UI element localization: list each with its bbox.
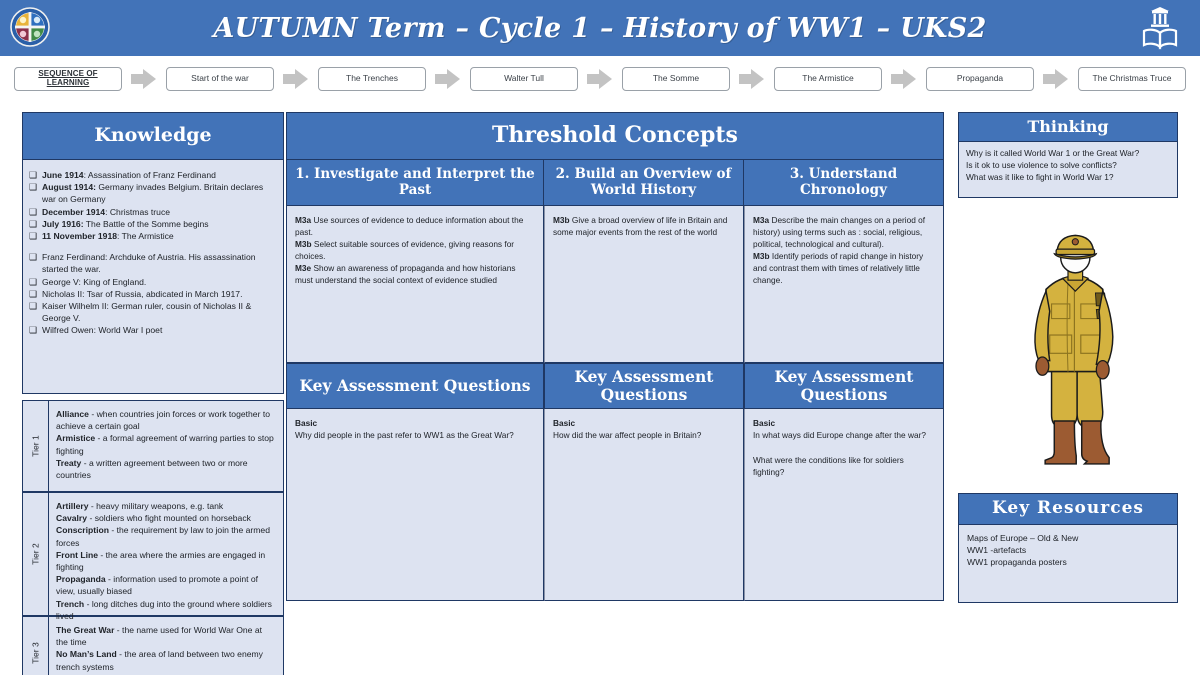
threshold-concepts-heading: Threshold Concepts — [286, 112, 944, 160]
knowledge-list-item: ❑December 1914: Christmas truce — [29, 206, 275, 218]
right-arrow-icon — [891, 68, 917, 90]
vocabulary-term: No Man’s Land - the area of land between… — [56, 648, 275, 672]
knowledge-item-text: 11 November 1918: The Armistice — [42, 230, 275, 242]
threshold-column-2: 2. Build an Overview of World History M3… — [544, 160, 744, 601]
tier-vocabulary-table: Tier 1Alliance - when countries join for… — [22, 400, 284, 675]
key-assessment-questions-content: BasicHow did the war affect people in Br… — [544, 409, 744, 601]
checkbox-bullet-icon: ❑ — [29, 230, 42, 242]
page-header: AUTUMN Term – Cycle 1 – History of WW1 –… — [0, 0, 1200, 56]
threshold-objective: M3b Identify periods of rapid change in … — [753, 250, 935, 286]
right-arrow-icon — [283, 68, 309, 90]
page-title: AUTUMN Term – Cycle 1 – History of WW1 –… — [213, 13, 986, 44]
knowledge-dates-list: ❑June 1914: Assassination of Franz Ferdi… — [29, 169, 275, 242]
threshold-column-objectives: M3b Give a broad overview of life in Bri… — [544, 206, 744, 363]
sequence-step-4[interactable]: The Somme — [622, 67, 730, 91]
threshold-column-3: 3. Understand Chronology M3a Describe th… — [744, 160, 944, 601]
vocabulary-term: Conscription - the requirement by law to… — [56, 524, 275, 548]
sequence-step-label: The Trenches — [346, 74, 398, 83]
knowledge-list-item: ❑Nicholas II: Tsar of Russia, abdicated … — [29, 288, 275, 300]
vocabulary-term: Alliance - when countries join forces or… — [56, 408, 275, 432]
thinking-question: Why is it called World War 1 or the Grea… — [966, 148, 1170, 160]
key-assessment-questions-content: BasicWhy did people in the past refer to… — [286, 409, 544, 601]
tier-label: Tier 3 — [23, 617, 49, 675]
sequence-step-1[interactable]: Start of the war — [166, 67, 274, 91]
knowledge-list-item: ❑George V: King of England. — [29, 276, 275, 288]
tier-label: Tier 2 — [23, 493, 49, 615]
threshold-objective: M3a Use sources of evidence to deduce in… — [295, 214, 535, 238]
checkbox-bullet-icon: ❑ — [29, 276, 42, 288]
checkbox-bullet-icon: ❑ — [29, 288, 42, 300]
thinking-questions: Why is it called World War 1 or the Grea… — [958, 142, 1178, 198]
museum-book-icon — [1138, 5, 1182, 51]
right-arrow-icon — [1043, 68, 1069, 90]
vocabulary-term: Artillery - heavy military weapons, e.g.… — [56, 500, 275, 512]
key-resource-item: WW1 propaganda posters — [967, 556, 1169, 568]
thinking-question: What was it like to fight in World War 1… — [966, 172, 1170, 184]
knowledge-panel: Knowledge ❑June 1914: Assassination of F… — [22, 112, 284, 645]
sequence-step-label: Propaganda — [957, 74, 1003, 83]
knowledge-list-item: ❑Franz Ferdinand: Archduke of Austria. H… — [29, 251, 275, 275]
sequence-step-label: Start of the war — [191, 74, 249, 83]
knowledge-list-item: ❑August 1914: Germany invades Belgium. B… — [29, 181, 275, 205]
tier-row: Tier 1Alliance - when countries join for… — [23, 401, 283, 493]
vocabulary-term: Treaty - a written agreement between two… — [56, 457, 275, 481]
tier-label: Tier 1 — [23, 401, 49, 491]
knowledge-heading: Knowledge — [22, 112, 284, 160]
knowledge-list-item: ❑Wilfred Owen: World War I poet — [29, 324, 275, 336]
checkbox-bullet-icon: ❑ — [29, 324, 42, 336]
thinking-heading: Thinking — [958, 112, 1178, 142]
knowledge-list-item: ❑June 1914: Assassination of Franz Ferdi… — [29, 169, 275, 181]
vocabulary-term: Front Line - the area where the armies a… — [56, 549, 275, 573]
knowledge-list-item: ❑11 November 1918: The Armistice — [29, 230, 275, 242]
checkbox-bullet-icon: ❑ — [29, 251, 42, 263]
knowledge-list-item: ❑July 1916: The Battle of the Somme begi… — [29, 218, 275, 230]
threshold-column-objectives: M3a Use sources of evidence to deduce in… — [286, 206, 544, 363]
thinking-panel: Thinking Why is it called World War 1 or… — [958, 112, 1178, 198]
vocabulary-term: Cavalry - soldiers who fight mounted on … — [56, 512, 275, 524]
tier-row: Tier 2Artillery - heavy military weapons… — [23, 493, 283, 617]
sequence-step-label: The Christmas Truce — [1093, 74, 1172, 83]
tier-definitions: Alliance - when countries join forces or… — [49, 401, 283, 491]
threshold-concepts-columns: 1. Investigate and Interpret the Past M3… — [286, 160, 944, 601]
key-assessment-questions-heading: Key Assessment Questions — [544, 363, 744, 409]
key-resources-panel: Key Resources Maps of Europe – Old & New… — [958, 493, 1178, 603]
right-sidebar: Thinking Why is it called World War 1 or… — [958, 112, 1178, 645]
sequence-title-label: SEQUENCE OF LEARNING — [18, 70, 118, 88]
assessment-level-label: Basic — [553, 417, 735, 429]
tier-definitions: The Great War - the name used for World … — [49, 617, 283, 675]
key-resource-item: Maps of Europe – Old & New — [967, 532, 1169, 544]
assessment-question: In what ways did Europe change after the… — [753, 429, 935, 441]
knowledge-item-text: Franz Ferdinand: Archduke of Austria. Hi… — [42, 251, 275, 275]
thinking-question: Is it ok to use violence to solve confli… — [966, 160, 1170, 172]
assessment-question: What were the conditions like for soldie… — [753, 454, 935, 479]
threshold-column-heading: 1. Investigate and Interpret the Past — [286, 160, 544, 206]
knowledge-item-text: Nicholas II: Tsar of Russia, abdicated i… — [42, 288, 275, 300]
assessment-level-label: Basic — [295, 417, 535, 429]
checkbox-bullet-icon: ❑ — [29, 169, 42, 181]
sequence-of-learning-strip: SEQUENCE OF LEARNING Start of the war Th… — [0, 58, 1200, 100]
key-resources-heading: Key Resources — [958, 493, 1178, 525]
threshold-objective: M3a Describe the main changes on a perio… — [753, 214, 935, 250]
sequence-step-label: The Somme — [653, 74, 699, 83]
knowledge-organiser-page: AUTUMN Term – Cycle 1 – History of WW1 –… — [0, 0, 1200, 675]
knowledge-people-list: ❑Franz Ferdinand: Archduke of Austria. H… — [29, 251, 275, 336]
checkbox-bullet-icon: ❑ — [29, 181, 42, 193]
sequence-step-6[interactable]: Propaganda — [926, 67, 1034, 91]
threshold-objective: M3b Select suitable sources of evidence,… — [295, 238, 535, 262]
knowledge-item-text: Wilfred Owen: World War I poet — [42, 324, 275, 336]
assessment-question: How did the war affect people in Britain… — [553, 429, 735, 441]
sequence-step-label: The Armistice — [802, 74, 854, 83]
key-resources-list: Maps of Europe – Old & NewWW1 -artefacts… — [958, 525, 1178, 603]
right-arrow-icon — [131, 68, 157, 90]
tier-row: Tier 3The Great War - the name used for … — [23, 617, 283, 675]
sequence-step-5[interactable]: The Armistice — [774, 67, 882, 91]
threshold-column-heading: 2. Build an Overview of World History — [544, 160, 744, 206]
key-resource-item: WW1 -artefacts — [967, 544, 1169, 556]
knowledge-item-text: August 1914: Germany invades Belgium. Br… — [42, 181, 275, 205]
knowledge-item-text: Kaiser Wilhelm II: German ruler, cousin … — [42, 300, 275, 324]
knowledge-item-text: July 1916: The Battle of the Somme begin… — [42, 218, 275, 230]
knowledge-item-text: December 1914: Christmas truce — [42, 206, 275, 218]
right-arrow-icon — [587, 68, 613, 90]
key-assessment-questions-heading: Key Assessment Questions — [286, 363, 544, 409]
sequence-step-2[interactable]: The Trenches — [318, 67, 426, 91]
sequence-step-7[interactable]: The Christmas Truce — [1078, 67, 1186, 91]
threshold-column-1: 1. Investigate and Interpret the Past M3… — [286, 160, 544, 601]
sequence-title-box[interactable]: SEQUENCE OF LEARNING — [14, 67, 122, 91]
assessment-question: Why did people in the past refer to WW1 … — [295, 429, 535, 441]
vocabulary-term: Armistice - a formal agreement of warrin… — [56, 432, 275, 456]
threshold-objective: M3e Show an awareness of propaganda and … — [295, 262, 535, 286]
knowledge-list-item: ❑Kaiser Wilhelm II: German ruler, cousin… — [29, 300, 275, 324]
sequence-step-3[interactable]: Walter Tull — [470, 67, 578, 91]
vocabulary-term: Propaganda - information used to promote… — [56, 573, 275, 597]
right-arrow-icon — [435, 68, 461, 90]
knowledge-item-text: George V: King of England. — [42, 276, 275, 288]
threshold-objective: M3b Give a broad overview of life in Bri… — [553, 214, 735, 238]
key-assessment-questions-heading: Key Assessment Questions — [744, 363, 944, 409]
assessment-level-label: Basic — [753, 417, 935, 429]
right-arrow-icon — [739, 68, 765, 90]
threshold-concepts-panel: Threshold Concepts 1. Investigate and In… — [286, 112, 944, 645]
key-assessment-questions-content: BasicIn what ways did Europe change afte… — [744, 409, 944, 601]
vocabulary-term: The Great War - the name used for World … — [56, 624, 275, 648]
checkbox-bullet-icon: ❑ — [29, 218, 42, 230]
knowledge-content: ❑June 1914: Assassination of Franz Ferdi… — [22, 160, 284, 394]
tier-definitions: Artillery - heavy military weapons, e.g.… — [49, 493, 283, 615]
threshold-column-heading: 3. Understand Chronology — [744, 160, 944, 206]
checkbox-bullet-icon: ❑ — [29, 206, 42, 218]
school-crest-logo — [8, 5, 52, 49]
ww1-soldier-illustration — [958, 198, 1178, 493]
checkbox-bullet-icon: ❑ — [29, 300, 42, 312]
sequence-step-label: Walter Tull — [504, 74, 544, 83]
knowledge-item-text: June 1914: Assassination of Franz Ferdin… — [42, 169, 275, 181]
threshold-column-objectives: M3a Describe the main changes on a perio… — [744, 206, 944, 363]
